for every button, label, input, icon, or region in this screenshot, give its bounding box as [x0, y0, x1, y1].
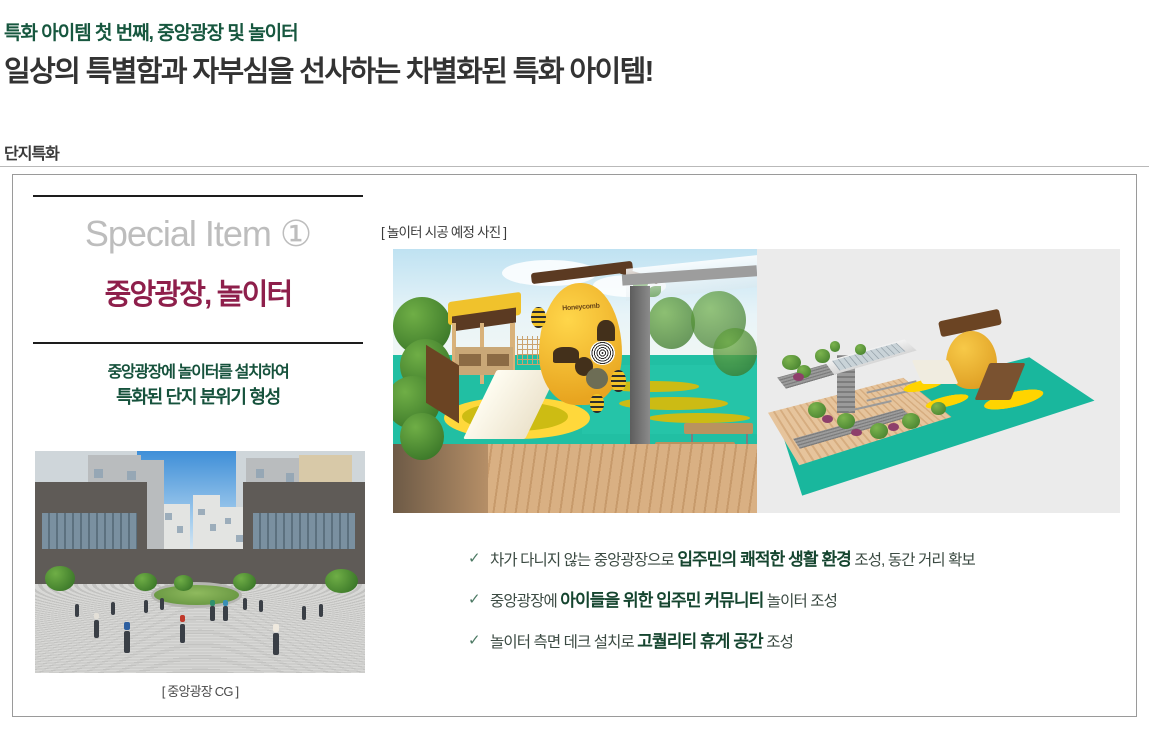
feature-bullet-text: 중앙광장에 아이들을 위한 입주민 커뮤니티 놀이터 조성 — [490, 590, 837, 612]
bullet-plain: 중앙광장에 — [490, 593, 560, 610]
check-icon: ✓ — [468, 590, 490, 610]
left-panel-bottom-divider — [33, 342, 363, 344]
content-panel: Special Item ① 중앙광장, 놀이터 중앙광장에 놀이터를 설치하여… — [12, 174, 1137, 717]
check-icon: ✓ — [468, 631, 490, 651]
photo-strip: Honeycomb — [393, 249, 1120, 513]
feature-bullet: ✓중앙광장에 아이들을 위한 입주민 커뮤니티 놀이터 조성 — [468, 590, 1118, 612]
bullet-plain: 놀이터 조성 — [763, 593, 837, 610]
header-eyebrow: 특화 아이템 첫 번째, 중앙광장 및 놀이터 — [4, 18, 298, 45]
feature-bullet: ✓차가 다니지 않는 중앙광장으로 입주민의 쾌적한 생활 환경 조성, 동간 … — [468, 549, 1118, 571]
description-line-2: 특화된 단지 분위기 형성 — [33, 384, 363, 410]
bullet-plain: 조성 — [763, 634, 793, 651]
feature-bullet: ✓놀이터 측면 데크 설치로 고퀄리티 휴게 공간 조성 — [468, 631, 1118, 653]
playground-perspective-image: Honeycomb — [393, 249, 757, 513]
photo-strip-caption: [ 놀이터 시공 예정 사진 ] — [381, 221, 506, 241]
check-icon: ✓ — [468, 549, 490, 569]
left-panel-top-divider — [33, 195, 363, 197]
special-item-subtitle: 중앙광장, 놀이터 — [33, 271, 363, 313]
bullet-plain: 차가 다니지 않는 중앙광장으로 — [490, 552, 677, 569]
page-title: 일상의 특별함과 자부심을 선사하는 차별화된 특화 아이템! — [4, 48, 653, 90]
special-item-title: Special Item ① — [33, 213, 363, 255]
description-line-1: 중앙광장에 놀이터를 설치하여 — [33, 361, 363, 384]
playground-isometric-image — [757, 249, 1120, 513]
section-divider — [0, 166, 1149, 167]
section-label: 단지특화 — [4, 140, 59, 164]
bullet-emphasis: 고퀄리티 휴게 공간 — [637, 632, 763, 651]
plaza-figure: [ 중앙광장 CG ] — [35, 451, 365, 700]
plaza-caption: [ 중앙광장 CG ] — [35, 681, 365, 700]
feature-bullet-list: ✓차가 다니지 않는 중앙광장으로 입주민의 쾌적한 생활 환경 조성, 동간 … — [468, 549, 1118, 672]
plaza-cg-image — [35, 451, 365, 673]
feature-bullet-text: 차가 다니지 않는 중앙광장으로 입주민의 쾌적한 생활 환경 조성, 동간 거… — [490, 549, 975, 571]
bullet-plain: 놀이터 측면 데크 설치로 — [490, 634, 637, 651]
bullet-plain: 조성, 동간 거리 확보 — [851, 552, 975, 569]
bullet-emphasis: 아이들을 위한 입주민 커뮤니티 — [560, 591, 763, 610]
left-panel-description: 중앙광장에 놀이터를 설치하여 특화된 단지 분위기 형성 — [33, 361, 363, 410]
feature-bullet-text: 놀이터 측면 데크 설치로 고퀄리티 휴게 공간 조성 — [490, 631, 793, 653]
bullet-emphasis: 입주민의 쾌적한 생활 환경 — [677, 550, 851, 569]
